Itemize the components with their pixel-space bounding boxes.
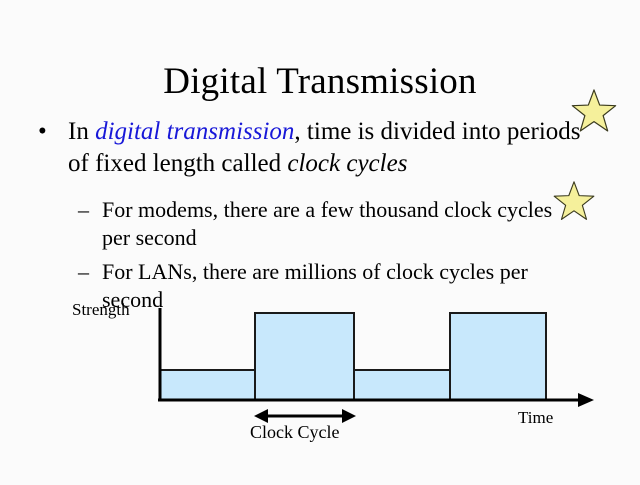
clock-cycle-arrowhead-left-icon bbox=[254, 409, 268, 423]
bullet-level1: • In digital transmission, time is divid… bbox=[38, 116, 598, 180]
bullet-level2-modems: – For modems, there are a few thousand c… bbox=[78, 196, 578, 252]
signal-block-low-2 bbox=[354, 370, 450, 400]
bullet-text-emphasis-digital-transmission: digital transmission bbox=[95, 118, 294, 145]
page-title: Digital Transmission bbox=[0, 60, 640, 104]
clock-cycle-annotation: Clock Cycle bbox=[250, 422, 339, 442]
bullet-marker: – bbox=[78, 258, 89, 286]
bullet-level2-modems-text: For modems, there are a few thousand clo… bbox=[102, 196, 578, 252]
bullet-marker: – bbox=[78, 196, 89, 224]
bullet-marker: • bbox=[38, 116, 47, 148]
bullet-text-part-1: In bbox=[68, 118, 95, 145]
star-icon-lower bbox=[552, 180, 596, 224]
clock-cycle-arrowhead-right-icon bbox=[342, 409, 356, 423]
signal-block-low-1 bbox=[160, 370, 255, 400]
signal-block-high-2 bbox=[450, 313, 546, 400]
bullet-level1-text: In digital transmission, time is divided… bbox=[68, 116, 598, 180]
slide: Digital Transmission • In digital transm… bbox=[0, 0, 640, 480]
star-icon-top bbox=[570, 88, 618, 136]
x-axis-arrowhead-icon bbox=[578, 393, 594, 407]
x-axis-label: Time bbox=[518, 408, 553, 428]
y-axis-label: Strength bbox=[72, 300, 130, 320]
signal-block-high-1 bbox=[255, 313, 354, 400]
bullet-text-emphasis-clock-cycles: clock cycles bbox=[287, 150, 407, 177]
